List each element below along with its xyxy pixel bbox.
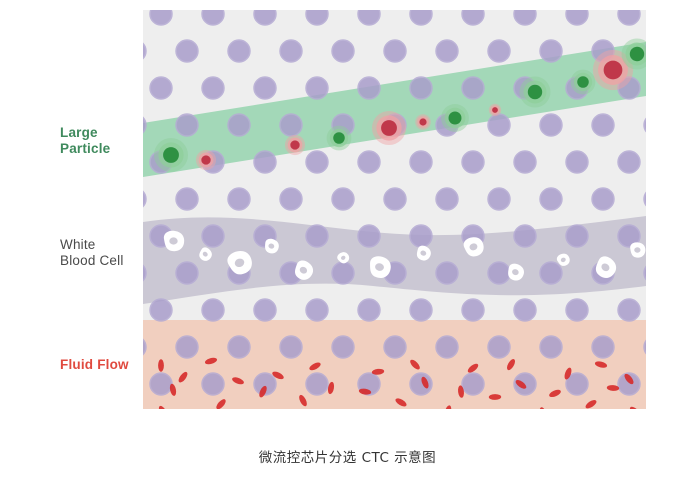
- pillar: [306, 225, 328, 247]
- pillar: [618, 10, 640, 25]
- pillar: [436, 188, 458, 210]
- pillar: [566, 151, 588, 173]
- pillar: [280, 40, 302, 62]
- ctc-core: [381, 120, 397, 136]
- pillar: [358, 225, 380, 247]
- pillar: [488, 262, 510, 284]
- pillar: [280, 336, 302, 358]
- pillar: [176, 336, 198, 358]
- pillar: [384, 336, 406, 358]
- pillar: [384, 188, 406, 210]
- pillar: [358, 151, 380, 173]
- microfluidic-chip-diagram: [143, 10, 646, 409]
- pillar: [410, 151, 432, 173]
- pillar: [488, 40, 510, 62]
- pillar: [176, 188, 198, 210]
- pillar: [410, 10, 432, 25]
- pillar: [280, 188, 302, 210]
- pillar: [254, 151, 276, 173]
- pillar: [462, 10, 484, 25]
- pillar: [228, 336, 250, 358]
- pillar: [566, 10, 588, 25]
- pillar: [150, 10, 172, 25]
- pillar: [410, 77, 432, 99]
- white-blood-cell: [630, 242, 645, 257]
- pillar: [566, 299, 588, 321]
- pillar: [410, 225, 432, 247]
- pillar: [150, 299, 172, 321]
- pillar: [202, 225, 224, 247]
- pillar: [202, 77, 224, 99]
- pillar: [358, 77, 380, 99]
- pillar: [618, 151, 640, 173]
- ctc-core: [604, 61, 623, 80]
- pillar: [488, 336, 510, 358]
- pillar: [202, 10, 224, 25]
- pillar: [176, 262, 198, 284]
- pillar: [592, 114, 614, 136]
- ctc-core: [419, 118, 426, 125]
- red-blood-cell: [158, 359, 164, 371]
- pillar: [332, 336, 354, 358]
- pillar: [332, 40, 354, 62]
- pillar: [306, 77, 328, 99]
- pillar: [306, 373, 328, 395]
- pillar: [488, 188, 510, 210]
- pillar: [618, 299, 640, 321]
- pillar: [332, 262, 354, 284]
- pillar: [514, 10, 536, 25]
- pillar: [176, 40, 198, 62]
- pillar: [566, 225, 588, 247]
- large-particle-core: [630, 47, 644, 61]
- pillar: [514, 225, 536, 247]
- pillar: [306, 299, 328, 321]
- pillar: [228, 114, 250, 136]
- pillar: [540, 114, 562, 136]
- fluid-flow-band: [143, 320, 646, 409]
- pillar: [150, 373, 172, 395]
- pillar: [410, 299, 432, 321]
- legend-label-large-particle: Large Particle: [60, 125, 110, 157]
- illustration-root: Large Particle White Blood Cell Fluid Fl…: [0, 0, 695, 484]
- pillar: [254, 299, 276, 321]
- pillar: [358, 10, 380, 25]
- pillar: [358, 299, 380, 321]
- pillar: [540, 40, 562, 62]
- pillar: [280, 114, 302, 136]
- white-blood-cell: [164, 231, 184, 251]
- pillar: [488, 114, 510, 136]
- large-particle-core: [333, 132, 345, 144]
- pillar: [436, 336, 458, 358]
- pillar: [228, 40, 250, 62]
- pillar: [436, 262, 458, 284]
- pillar: [514, 151, 536, 173]
- pillar: [592, 336, 614, 358]
- legend-label-white-blood-cell: White Blood Cell: [60, 237, 124, 269]
- pillar: [306, 10, 328, 25]
- pillar: [462, 299, 484, 321]
- ctc-core: [201, 155, 210, 164]
- pillar: [592, 188, 614, 210]
- pillar: [462, 77, 484, 99]
- pillar: [254, 10, 276, 25]
- pillar: [384, 40, 406, 62]
- pillar: [540, 262, 562, 284]
- pillar: [462, 373, 484, 395]
- pillar: [514, 299, 536, 321]
- large-particle-core: [449, 112, 462, 125]
- pillar: [150, 77, 172, 99]
- figure-caption: 微流控芯片分选 CTC 示意图: [0, 446, 695, 466]
- pillar: [462, 151, 484, 173]
- pillar: [202, 373, 224, 395]
- ctc-core: [492, 107, 498, 113]
- pillar: [202, 299, 224, 321]
- pillar: [410, 373, 432, 395]
- ctc-core: [290, 140, 299, 149]
- pillar: [332, 188, 354, 210]
- pillar: [540, 188, 562, 210]
- pillar: [176, 114, 198, 136]
- pillar: [254, 77, 276, 99]
- pillar: [436, 40, 458, 62]
- pillar: [540, 336, 562, 358]
- pillar: [228, 188, 250, 210]
- large-particle-core: [577, 76, 589, 88]
- large-particle-core: [528, 85, 542, 99]
- pillar: [306, 151, 328, 173]
- large-particle-core: [163, 147, 179, 163]
- legend-label-fluid-flow: Fluid Flow: [60, 357, 129, 373]
- chip-canvas: [143, 10, 646, 409]
